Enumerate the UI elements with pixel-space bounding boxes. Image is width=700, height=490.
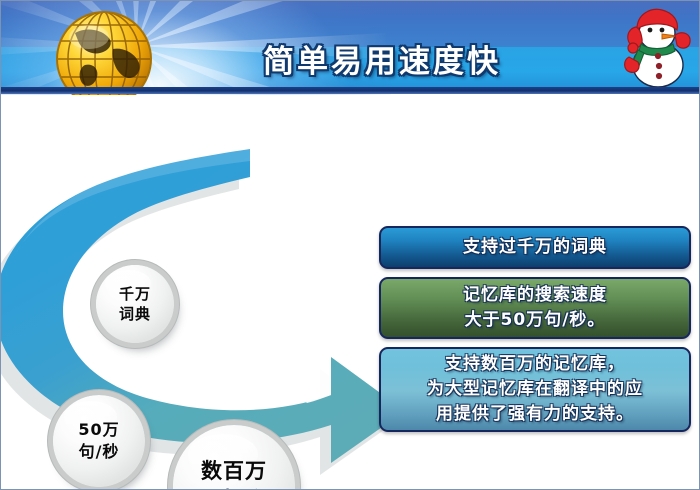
circle-label: 千万 词典 [119, 284, 151, 324]
circle-label: 数百万 记忆库 [201, 457, 267, 490]
circle-qianwan-cidian: 千万 词典 [96, 265, 174, 343]
box-memory-capacity: 支持数百万的记忆库， 为大型记忆库在翻译中的应 用提供了强有力的支持。 [379, 347, 691, 432]
page-title: 简单易用速度快 [1, 37, 700, 87]
box-line: 大于50万句/秒。 [463, 308, 607, 333]
box-text: 支持过千万的词典 [455, 235, 615, 260]
box-line: 支持数百万的记忆库， [427, 352, 643, 377]
box-line: 为大型记忆库在翻译中的应 [427, 377, 643, 402]
circle-label-line2: 词典 [119, 304, 151, 324]
diagram-stage: 千万 词典 50万 句/秒 数百万 记忆库 支持过千万的词典 记忆库的搜索速度 [1, 95, 700, 490]
box-dictionary: 支持过千万的词典 [379, 226, 691, 269]
circle-label-line2: 句/秒 [78, 441, 119, 463]
circle-label-line1: 千万 [119, 284, 151, 304]
box-line: 记忆库的搜索速度 [463, 283, 607, 308]
box-line: 支持过千万的词典 [463, 235, 607, 260]
circle-label-line1: 50万 [78, 419, 119, 441]
box-search-speed: 记忆库的搜索速度 大于50万句/秒。 [379, 277, 691, 339]
header-divider-rule [1, 87, 700, 94]
circle-label-line1: 数百万 [201, 457, 267, 486]
circle-label-line2: 记忆库 [201, 486, 267, 490]
circle-50wan-jumiao: 50万 句/秒 [53, 395, 145, 487]
slide-root: 简单易用速度快 [0, 0, 700, 490]
box-line: 用提供了强有力的支持。 [427, 402, 643, 427]
slide-header: 简单易用速度快 [1, 1, 700, 95]
box-text: 支持数百万的记忆库， 为大型记忆库在翻译中的应 用提供了强有力的支持。 [419, 352, 651, 427]
box-text: 记忆库的搜索速度 大于50万句/秒。 [455, 283, 615, 333]
circle-label: 50万 句/秒 [78, 419, 119, 463]
